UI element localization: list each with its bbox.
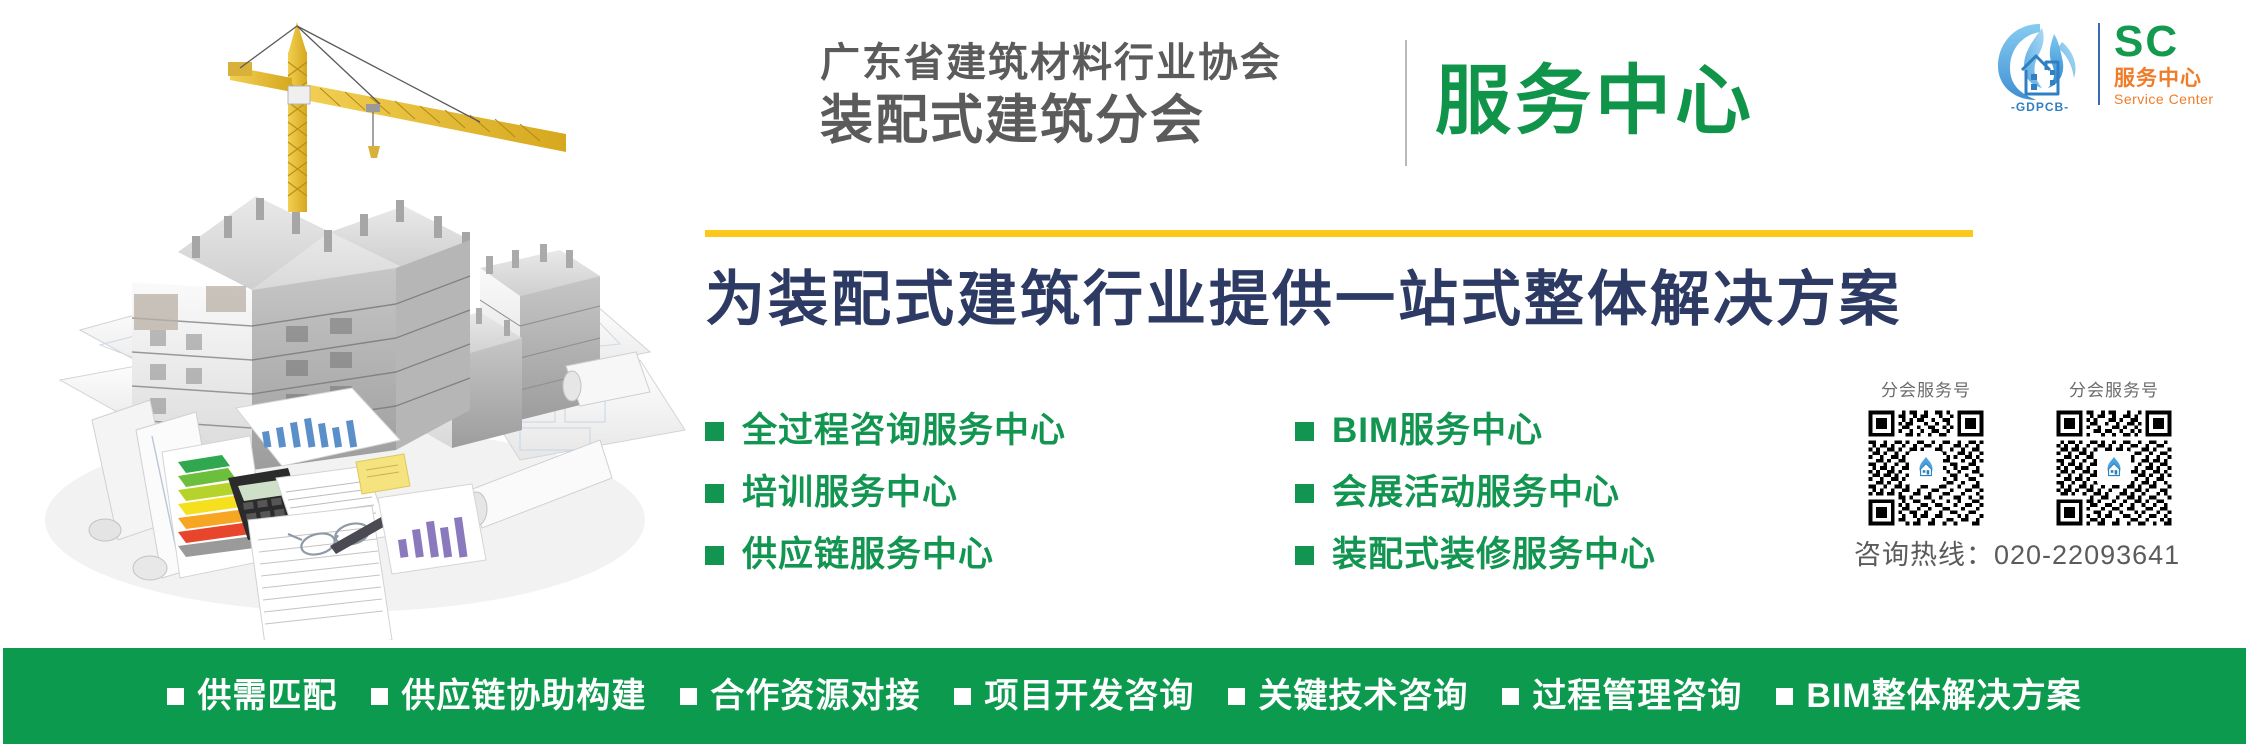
capability-label: 供应链协助构建: [401, 675, 646, 717]
association-line-2: 装配式建筑分会: [820, 90, 1360, 152]
square-bullet-icon: [1228, 688, 1245, 705]
gold-divider-rule: [705, 230, 1973, 237]
service-item[interactable]: 会展活动服务中心: [1295, 472, 1825, 514]
hotline-text: 咨询热线：020-22093641: [1852, 538, 2232, 572]
qr-code-right[interactable]: [2053, 407, 2175, 529]
bar-chart-sheet-purple: [378, 484, 486, 574]
title-divider: [1405, 40, 1407, 166]
square-bullet-icon: [371, 688, 388, 705]
qr-caption-right: 分会服务号: [2040, 380, 2188, 402]
service-label: 全过程咨询服务中心: [742, 410, 1066, 452]
square-bullet-icon: [1295, 484, 1314, 503]
sc-abbreviation: SC: [2114, 20, 2214, 64]
service-label: 供应链服务中心: [742, 534, 994, 576]
construction-illustration: [0, 0, 690, 640]
capability-label: BIM整体解决方案: [1806, 675, 2081, 717]
qr-code-left[interactable]: [1865, 407, 1987, 529]
capability-item[interactable]: 合作资源对接: [680, 675, 920, 717]
association-name: 广东省建筑材料行业协会 装配式建筑分会: [820, 38, 1360, 152]
service-item[interactable]: 供应链服务中心: [705, 534, 1295, 576]
qr-center-logo-icon: [1909, 451, 1943, 485]
capability-label: 供需匹配: [197, 675, 337, 717]
capability-label: 关键技术咨询: [1258, 675, 1468, 717]
square-bullet-icon: [1295, 422, 1314, 441]
promotional-banner: 广东省建筑材料行业协会 装配式建筑分会 服务中心 为装配式建筑行业提供一站式整体…: [0, 0, 2246, 752]
brand-divider: [2098, 23, 2100, 105]
tower-crane: [228, 22, 566, 212]
sc-chinese-label: 服务中心: [2114, 66, 2214, 91]
square-bullet-icon: [954, 688, 971, 705]
square-bullet-icon: [680, 688, 697, 705]
service-label: 会展活动服务中心: [1332, 472, 1620, 514]
service-list: 全过程咨询服务中心 BIM服务中心 培训服务中心 会展活动服务中心 供应链服务中…: [705, 400, 1825, 586]
capability-item[interactable]: 过程管理咨询: [1502, 675, 1742, 717]
header-title-block: 广东省建筑材料行业协会 装配式建筑分会 服务中心: [700, 34, 1990, 219]
sc-english-label: Service Center: [2114, 91, 2214, 108]
brand-logo: -GDPCB- SC 服务中心 Service Center: [1988, 12, 2238, 116]
qr-card-right: 分会服务号: [2040, 380, 2188, 529]
qr-caption-left: 分会服务号: [1852, 380, 2000, 402]
tagline: 为装配式建筑行业提供一站式整体解决方案: [705, 262, 1985, 338]
service-label: BIM服务中心: [1332, 410, 1543, 452]
service-label: 装配式装修服务中心: [1332, 534, 1656, 576]
association-line-1: 广东省建筑材料行业协会: [820, 38, 1360, 88]
service-label: 培训服务中心: [742, 472, 958, 514]
capability-item[interactable]: 供应链协助构建: [371, 675, 646, 717]
capability-item[interactable]: 关键技术咨询: [1228, 675, 1468, 717]
gdpcb-logo-icon: -GDPCB-: [1988, 12, 2092, 116]
square-bullet-icon: [1776, 688, 1793, 705]
service-item[interactable]: 全过程咨询服务中心: [705, 410, 1295, 452]
square-bullet-icon: [1502, 688, 1519, 705]
qr-contact-block: 分会服务号: [1852, 380, 2232, 570]
qr-center-logo-icon: [2097, 451, 2131, 485]
square-bullet-icon: [705, 546, 724, 565]
service-item[interactable]: BIM服务中心: [1295, 410, 1825, 452]
capability-label: 项目开发咨询: [984, 675, 1194, 717]
square-bullet-icon: [1295, 546, 1314, 565]
capability-item[interactable]: BIM整体解决方案: [1776, 675, 2081, 717]
square-bullet-icon: [705, 422, 724, 441]
qr-card-left: 分会服务号: [1852, 380, 2000, 529]
capability-item[interactable]: 供需匹配: [167, 675, 337, 717]
sc-lockup: SC 服务中心 Service Center: [2114, 20, 2214, 108]
bottom-capability-bar: 供需匹配 供应链协助构建 合作资源对接 项目开发咨询 关键技术咨询 过程管理咨询…: [3, 648, 2246, 744]
square-bullet-icon: [705, 484, 724, 503]
service-item[interactable]: 培训服务中心: [705, 472, 1295, 514]
square-bullet-icon: [167, 688, 184, 705]
service-item[interactable]: 装配式装修服务中心: [1295, 534, 1825, 576]
capability-item[interactable]: 项目开发咨询: [954, 675, 1194, 717]
service-center-heading: 服务中心: [1435, 52, 1755, 152]
capability-label: 过程管理咨询: [1532, 675, 1742, 717]
gdpcb-wordmark: -GDPCB-: [2011, 100, 2069, 114]
capability-label: 合作资源对接: [710, 675, 920, 717]
